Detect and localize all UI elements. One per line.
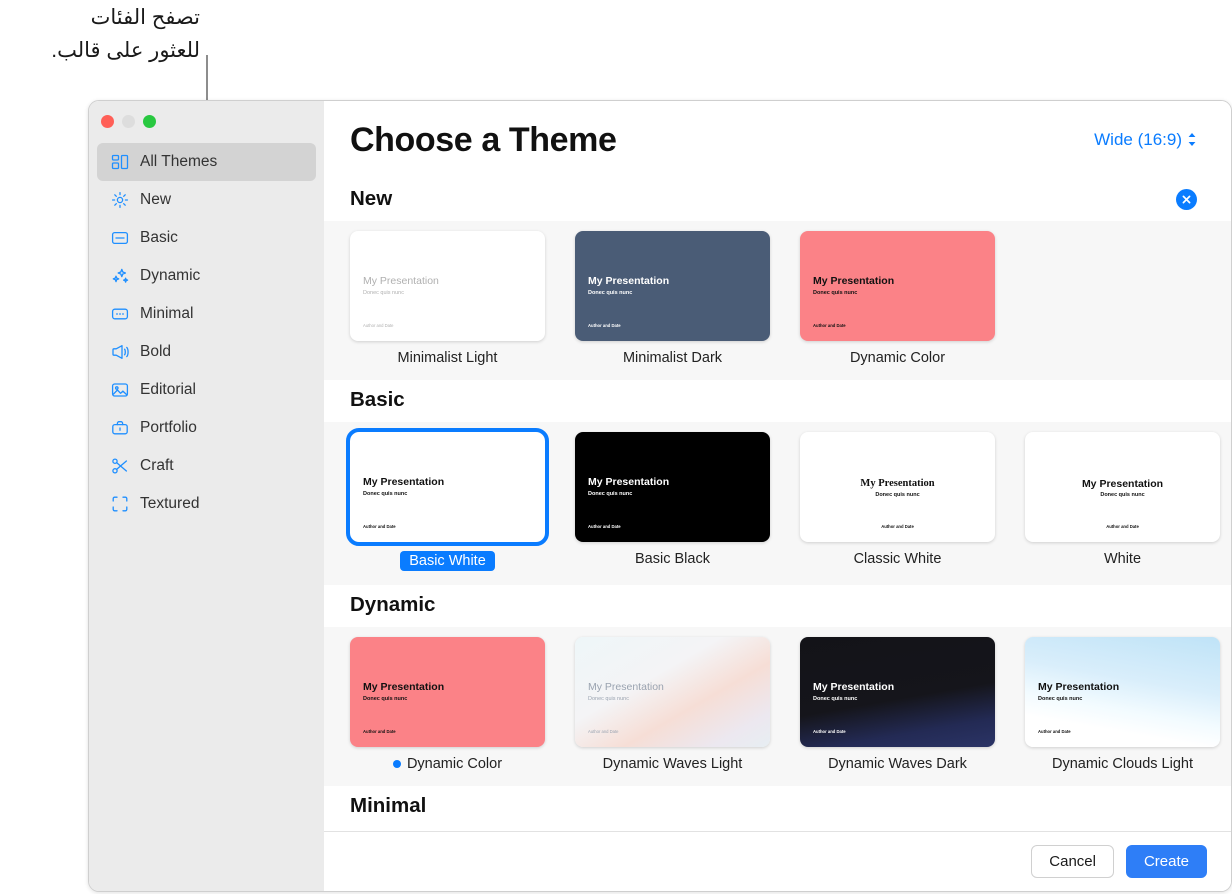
category-sidebar: All ThemesNewBasicDynamicMinimalBoldEdit… [89, 101, 324, 891]
theme-name-label: Basic White [400, 551, 495, 571]
sparkle-burst-icon [110, 191, 129, 210]
current-theme-dot-icon [393, 760, 401, 768]
theme-name-label: White [1104, 551, 1141, 567]
megaphone-icon [110, 343, 129, 362]
thumb-author: Author and Date [363, 323, 394, 328]
section-header: Dynamic [324, 585, 1231, 627]
sidebar-item-dynamic[interactable]: Dynamic [97, 257, 316, 295]
thumb-author: Author and Date [813, 323, 846, 328]
thumb-author: Author and Date [588, 729, 619, 734]
theme-scroll-area[interactable]: NewMy PresentationDonec quis nuncAuthor … [324, 179, 1231, 831]
grid-icon [110, 153, 129, 172]
theme-card[interactable]: My PresentationDonec quis nuncAuthor and… [575, 637, 770, 772]
thumb-subtitle: Donec quis nunc [588, 696, 629, 702]
photo-icon [110, 381, 129, 400]
theme-card[interactable]: My PresentationDonec quis nuncAuthor and… [800, 231, 995, 366]
theme-card[interactable]: My PresentationDonec quis nuncAuthor and… [575, 231, 770, 366]
callout-text: تصفح الفئات للعثور على قالب. [0, 2, 200, 67]
theme-chooser-window: All ThemesNewBasicDynamicMinimalBoldEdit… [88, 100, 1232, 892]
theme-thumbnail[interactable]: My PresentationDonec quis nuncAuthor and… [350, 637, 545, 747]
theme-card-caption: Classic White [800, 551, 995, 567]
thumb-subtitle: Donec quis nunc [363, 696, 407, 702]
thumb-title: My Presentation [588, 275, 669, 287]
theme-name-label: Minimalist Dark [623, 350, 722, 366]
thumb-title: My Presentation [363, 275, 439, 287]
sidebar-item-editorial[interactable]: Editorial [97, 371, 316, 409]
thumb-subtitle: Donec quis nunc [1025, 492, 1220, 498]
theme-name-label: Classic White [854, 551, 942, 567]
sparkles-icon [110, 267, 129, 286]
window-traffic-lights [101, 115, 156, 128]
thumb-subtitle: Donec quis nunc [813, 696, 857, 702]
thumb-title: My Presentation [1025, 478, 1220, 490]
theme-card-caption: Basic Black [575, 551, 770, 567]
thumb-subtitle: Donec quis nunc [363, 290, 404, 296]
theme-card-caption: Dynamic Clouds Light [1025, 756, 1220, 772]
sidebar-item-bold[interactable]: Bold [97, 333, 316, 371]
sidebar-item-new[interactable]: New [97, 181, 316, 219]
thumb-subtitle: Donec quis nunc [363, 491, 407, 497]
thumb-author: Author and Date [813, 729, 846, 734]
crop-frame-icon [110, 495, 129, 514]
theme-card[interactable]: My PresentationDonec quis nuncAuthor and… [575, 432, 770, 571]
theme-card[interactable]: My PresentationDonec quis nuncAuthor and… [800, 432, 995, 571]
theme-name-label: Basic Black [635, 551, 710, 567]
page-title: Choose a Theme [350, 121, 616, 160]
thumb-author: Author and Date [588, 323, 621, 328]
dots-card-icon [110, 305, 129, 324]
sidebar-item-minimal[interactable]: Minimal [97, 295, 316, 333]
theme-thumbnail[interactable]: My PresentationDonec quis nuncAuthor and… [1025, 637, 1220, 747]
thumb-author: Author and Date [800, 524, 995, 529]
theme-thumbnail[interactable]: My PresentationDonec quis nuncAuthor and… [350, 432, 545, 542]
theme-name-label: Dynamic Color [850, 350, 945, 366]
section-title: Dynamic [350, 593, 435, 617]
close-icon[interactable] [1176, 189, 1197, 210]
close-window-button[interactable] [101, 115, 114, 128]
sidebar-item-craft[interactable]: Craft [97, 447, 316, 485]
theme-name-label: Minimalist Light [398, 350, 498, 366]
section-header: New [324, 179, 1231, 221]
sidebar-item-textured[interactable]: Textured [97, 485, 316, 523]
thumb-author: Author and Date [363, 524, 396, 529]
thumb-title: My Presentation [588, 476, 669, 488]
briefcase-icon [110, 419, 129, 438]
sidebar-item-label: Textured [140, 495, 199, 513]
theme-card-caption: Minimalist Light [350, 350, 545, 366]
card-icon [110, 229, 129, 248]
chevron-updown-icon [1187, 132, 1197, 149]
sidebar-list: All ThemesNewBasicDynamicMinimalBoldEdit… [89, 143, 324, 523]
section-title: Minimal [350, 794, 426, 818]
theme-content-pane: Choose a Theme Wide (16:9) NewMy Present… [324, 101, 1231, 891]
theme-card[interactable]: My PresentationDonec quis nuncAuthor and… [800, 637, 995, 772]
thumb-title: My Presentation [813, 275, 894, 287]
theme-name-label: Dynamic Waves Dark [828, 756, 967, 772]
sidebar-item-label: Bold [140, 343, 171, 361]
thumb-subtitle: Donec quis nunc [800, 492, 995, 498]
theme-card[interactable]: My PresentationDonec quis nuncAuthor and… [350, 231, 545, 366]
theme-name-label: Dynamic Color [407, 756, 502, 772]
section-title: New [350, 187, 392, 211]
section-title: Basic [350, 388, 405, 412]
thumb-subtitle: Donec quis nunc [588, 491, 632, 497]
theme-card[interactable]: My PresentationDonec quis nuncAuthor and… [350, 637, 545, 772]
thumb-title: My Presentation [363, 681, 444, 693]
theme-thumbnail[interactable]: My PresentationDonec quis nuncAuthor and… [575, 432, 770, 542]
minimize-window-button[interactable] [122, 115, 135, 128]
sidebar-item-label: Dynamic [140, 267, 200, 285]
theme-name-label: Dynamic Waves Light [603, 756, 743, 772]
sidebar-item-label: Craft [140, 457, 174, 475]
theme-card-caption: White [1025, 551, 1220, 567]
sidebar-item-label: New [140, 191, 171, 209]
sidebar-item-label: Minimal [140, 305, 193, 323]
thumb-title: My Presentation [1038, 681, 1119, 693]
theme-thumbnail[interactable]: My PresentationDonec quis nuncAuthor and… [1025, 432, 1220, 542]
sidebar-item-label: Basic [140, 229, 178, 247]
sidebar-item-basic[interactable]: Basic [97, 219, 316, 257]
sidebar-item-label: Editorial [140, 381, 196, 399]
sidebar-item-all-themes[interactable]: All Themes [97, 143, 316, 181]
sidebar-item-label: All Themes [140, 153, 217, 171]
section-header: Basic [324, 380, 1231, 422]
thumb-title: My Presentation [363, 476, 444, 488]
theme-card-caption: Dynamic Color [800, 350, 995, 366]
aspect-ratio-label: Wide (16:9) [1094, 130, 1182, 150]
theme-card-caption: Dynamic Waves Light [575, 756, 770, 772]
thumb-subtitle: Donec quis nunc [588, 290, 632, 296]
sidebar-item-portfolio[interactable]: Portfolio [97, 409, 316, 447]
theme-card-caption: Minimalist Dark [575, 350, 770, 366]
dialog-footer: Cancel Create [324, 831, 1231, 891]
thumb-title: My Presentation [588, 681, 664, 693]
thumb-title: My Presentation [813, 681, 894, 693]
thumb-title: My Presentation [800, 478, 995, 489]
theme-row: My PresentationDonec quis nuncAuthor and… [324, 221, 1231, 380]
thumb-author: Author and Date [1038, 729, 1071, 734]
aspect-ratio-select[interactable]: Wide (16:9) [1094, 130, 1197, 150]
scissors-icon [110, 457, 129, 476]
theme-thumbnail[interactable]: My PresentationDonec quis nuncAuthor and… [575, 231, 770, 341]
thumb-subtitle: Donec quis nunc [813, 290, 857, 296]
theme-row: My PresentationDonec quis nuncAuthor and… [324, 627, 1231, 786]
cancel-button[interactable]: Cancel [1031, 845, 1114, 878]
zoom-window-button[interactable] [143, 115, 156, 128]
theme-card-caption: Dynamic Color [350, 756, 545, 772]
theme-thumbnail[interactable]: My PresentationDonec quis nuncAuthor and… [800, 231, 995, 341]
thumb-author: Author and Date [588, 524, 621, 529]
theme-thumbnail[interactable]: My PresentationDonec quis nuncAuthor and… [800, 432, 995, 542]
content-header: Choose a Theme Wide (16:9) [324, 101, 1231, 179]
theme-card-caption: Dynamic Waves Dark [800, 756, 995, 772]
sidebar-item-label: Portfolio [140, 419, 197, 437]
thumb-subtitle: Donec quis nunc [1038, 696, 1082, 702]
theme-name-label: Dynamic Clouds Light [1052, 756, 1193, 772]
theme-card-caption: Basic White [350, 551, 545, 571]
theme-card[interactable]: My PresentationDonec quis nuncAuthor and… [1025, 637, 1220, 772]
theme-thumbnail[interactable]: My PresentationDonec quis nuncAuthor and… [350, 231, 545, 341]
theme-card[interactable]: My PresentationDonec quis nuncAuthor and… [350, 432, 545, 571]
theme-card[interactable]: My PresentationDonec quis nuncAuthor and… [1025, 432, 1220, 571]
theme-thumbnail[interactable]: My PresentationDonec quis nuncAuthor and… [575, 637, 770, 747]
create-button[interactable]: Create [1126, 845, 1207, 878]
section-header: Minimal [324, 786, 1231, 828]
thumb-author: Author and Date [363, 729, 396, 734]
theme-row: My PresentationDonec quis nuncAuthor and… [324, 422, 1231, 585]
theme-thumbnail[interactable]: My PresentationDonec quis nuncAuthor and… [800, 637, 995, 747]
thumb-author: Author and Date [1025, 524, 1220, 529]
